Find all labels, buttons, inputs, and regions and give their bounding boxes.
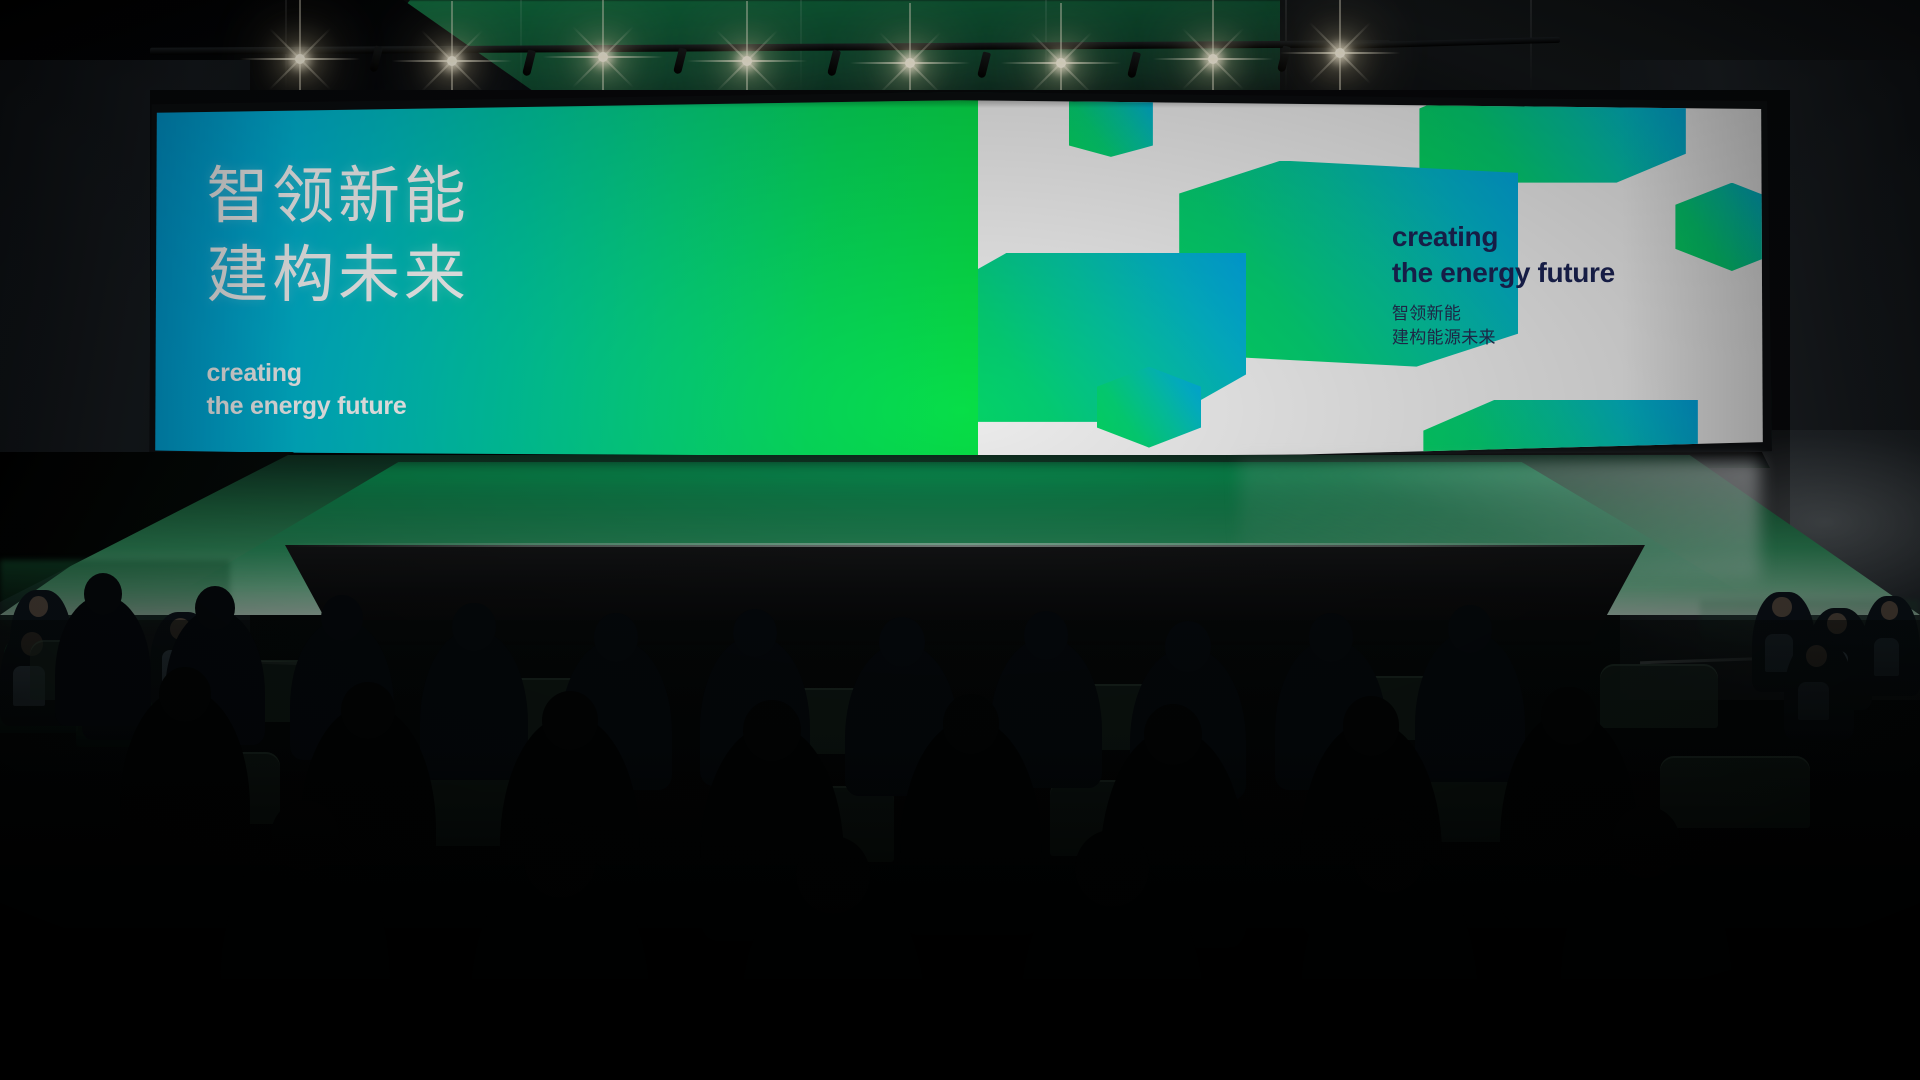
tagline-chinese-right: 智领新能 建构能源未来	[1392, 302, 1496, 350]
stage-photo-root: 智领新能 建构未来 creating the energy future cre…	[0, 0, 1920, 1080]
spot-1	[295, 54, 305, 64]
tagline-english-left: creating the energy future	[207, 357, 407, 422]
audience-head-back-5	[943, 694, 1000, 754]
audience-head-back-6	[1144, 704, 1202, 765]
screen-left-gradient-panel: 智领新能 建构未来 creating the energy future	[152, 98, 978, 466]
spot-3	[598, 52, 608, 62]
audience-person-front-11	[1415, 632, 1525, 782]
audience-head-front-3	[321, 595, 363, 641]
audience-head-front-6	[733, 609, 777, 657]
spot-8	[1335, 48, 1345, 58]
spot-5	[905, 58, 915, 68]
headline-chinese: 智领新能 建构未来	[207, 157, 470, 316]
seat-row-13	[1660, 756, 1810, 828]
audience-head-front-4	[452, 603, 495, 651]
audience-head-back-4	[743, 700, 801, 760]
spot-6	[1056, 58, 1066, 68]
audience-head-back-3	[542, 691, 598, 750]
led-screen: 智领新能 建构未来 creating the energy future cre…	[152, 98, 1766, 466]
audience-head-back-7	[1343, 696, 1400, 756]
audience-head-back-8	[1541, 687, 1596, 745]
audience-head-front-11	[1448, 605, 1492, 653]
audience-head-back-13	[1353, 818, 1424, 893]
spot-7	[1208, 54, 1218, 64]
audience-face-left-1	[29, 596, 49, 617]
hex-right-small	[1675, 183, 1766, 271]
audience-head-back-9	[271, 800, 339, 871]
audience-area	[0, 620, 1920, 1080]
audience-head-front-2	[195, 586, 235, 630]
audience-head-back-14	[1612, 806, 1681, 878]
audience-head-back-2	[341, 682, 395, 739]
audience-head-front-9	[1165, 621, 1211, 672]
seat-row-7	[1600, 664, 1718, 728]
audience-face-right-3	[1881, 601, 1898, 620]
audience-person-front-4	[420, 630, 528, 780]
audience-head-back-10	[524, 822, 596, 898]
hex-top-left-small	[1069, 98, 1153, 157]
stage-riser-top-edge	[285, 543, 1645, 547]
tagline-english-right: creating the energy future	[1392, 219, 1615, 290]
audience-head-front-7	[879, 617, 925, 667]
audience-head-back-1	[159, 667, 211, 722]
audience-head-back-11	[796, 836, 870, 914]
spot-4	[742, 56, 752, 66]
audience-head-front-1	[84, 573, 122, 615]
spot-2	[447, 56, 457, 66]
screen-right-white-panel: creating the energy future 智领新能 建构能源未来	[978, 98, 1766, 466]
audience-head-back-12	[1075, 830, 1149, 907]
audience-face-right-1	[1772, 597, 1791, 617]
ceiling-seam-6	[1530, 0, 1532, 92]
